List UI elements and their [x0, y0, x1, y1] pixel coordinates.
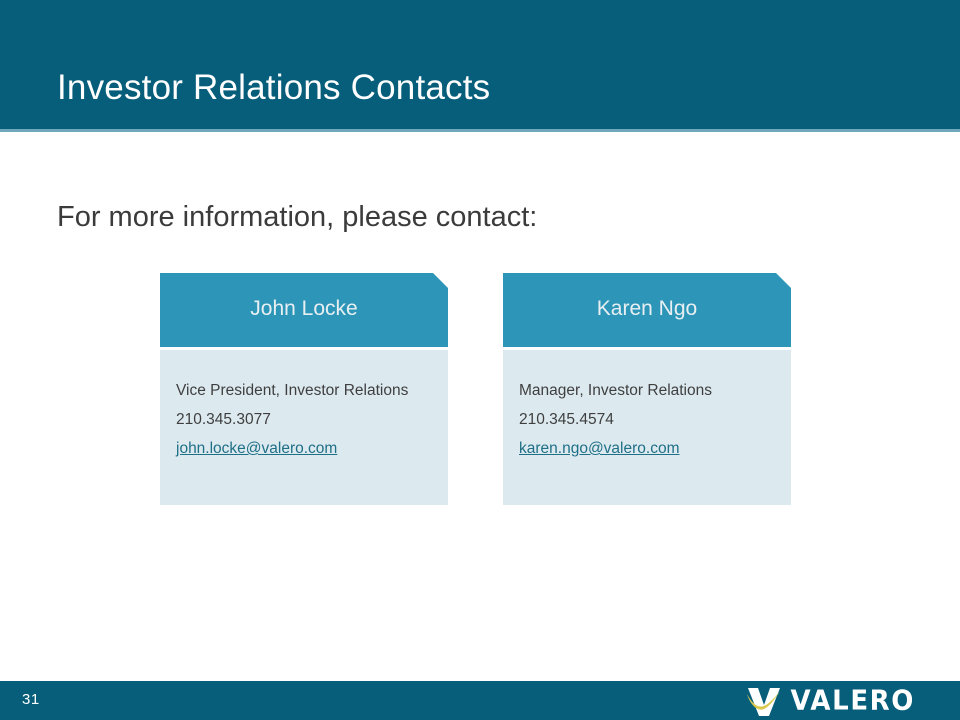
- contact-cards: John Locke Vice President, Investor Rela…: [160, 273, 800, 505]
- contact-card-header: John Locke: [160, 273, 448, 347]
- valero-logo: VALERO: [745, 685, 915, 717]
- header-divider-rule: [0, 129, 960, 132]
- page-number: 31: [22, 690, 40, 710]
- contact-job-title: Manager, Investor Relations: [519, 376, 791, 405]
- contact-job-title: Vice President, Investor Relations: [176, 376, 448, 405]
- contact-card-body: Vice President, Investor Relations 210.3…: [160, 350, 448, 505]
- contact-card-john-locke: John Locke Vice President, Investor Rela…: [160, 273, 448, 505]
- contact-email-link[interactable]: john.locke@valero.com: [176, 434, 337, 463]
- contact-card-karen-ngo: Karen Ngo Manager, Investor Relations 21…: [503, 273, 791, 505]
- contact-card-header: Karen Ngo: [503, 273, 791, 347]
- contact-email-link[interactable]: karen.ngo@valero.com: [519, 434, 679, 463]
- valero-v-icon: [745, 685, 783, 717]
- page-title: Investor Relations Contacts: [57, 65, 490, 111]
- contact-name: John Locke: [250, 296, 357, 322]
- contact-phone: 210.345.4574: [519, 405, 791, 434]
- valero-wordmark: VALERO: [790, 687, 915, 714]
- contact-card-body: Manager, Investor Relations 210.345.4574…: [503, 350, 791, 505]
- subtitle-text: For more information, please contact:: [57, 198, 537, 236]
- contact-name: Karen Ngo: [597, 296, 697, 322]
- slide: Investor Relations Contacts For more inf…: [0, 0, 960, 720]
- contact-phone: 210.345.3077: [176, 405, 448, 434]
